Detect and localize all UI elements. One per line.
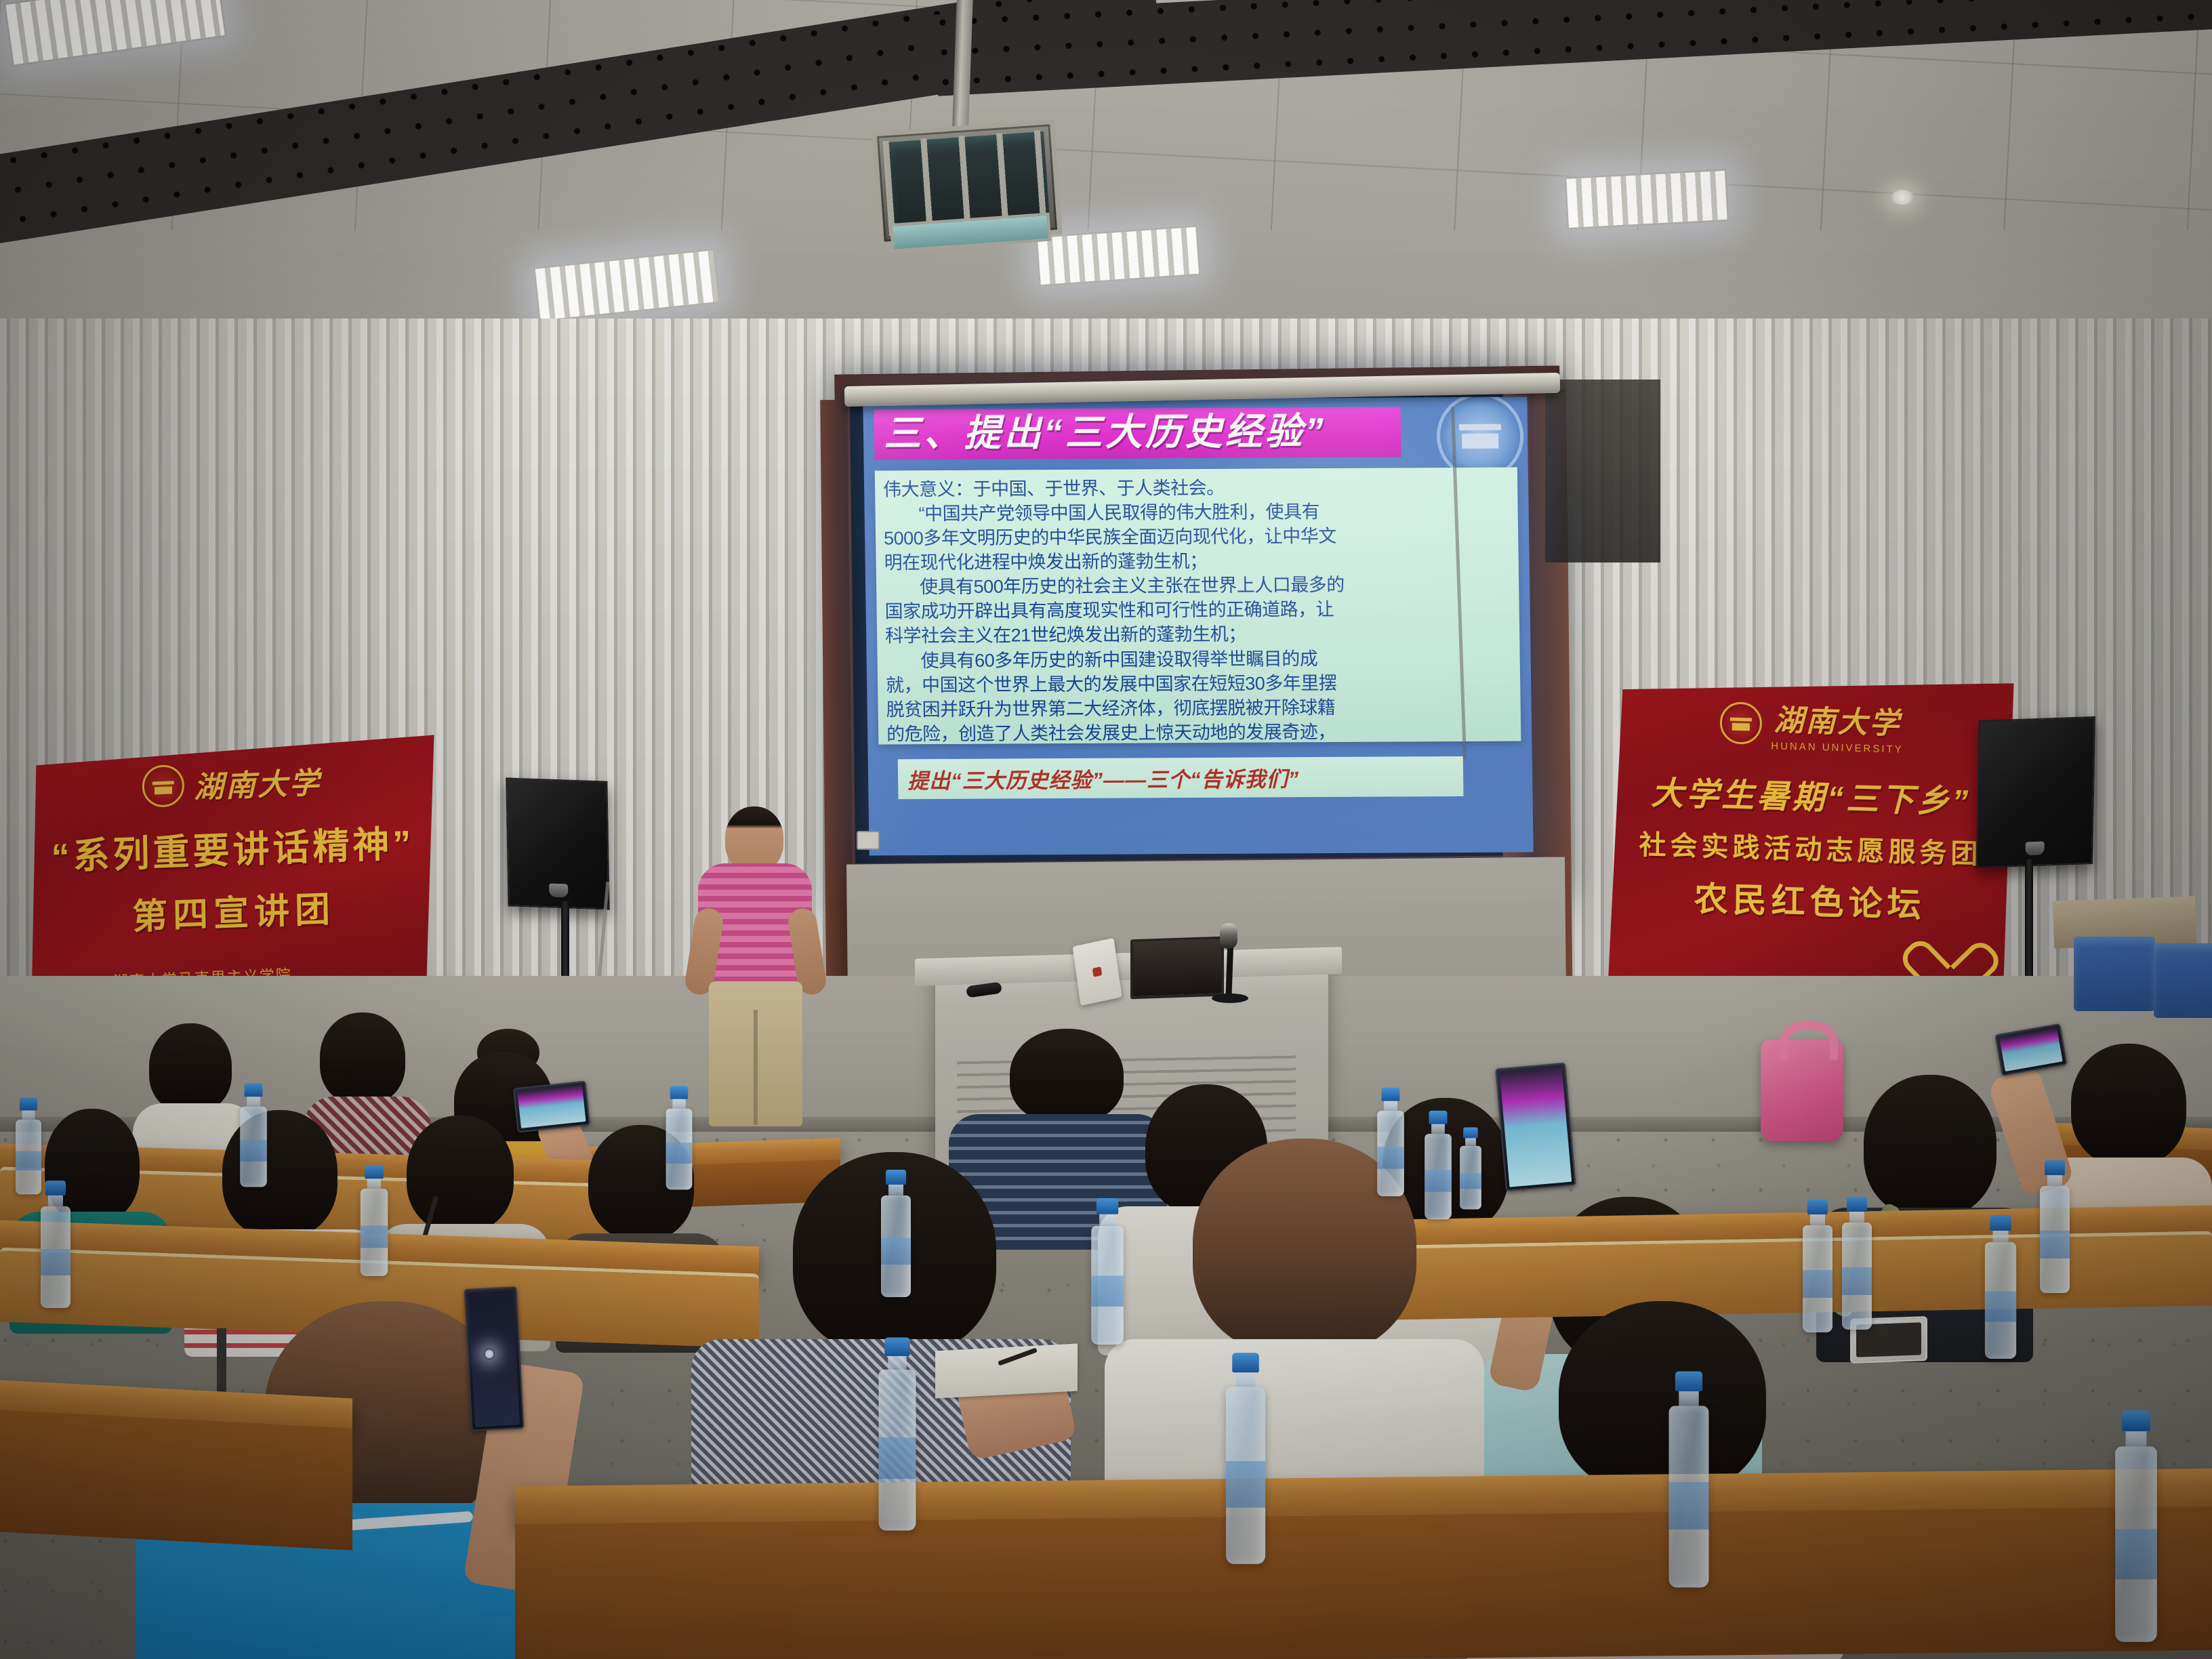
bottle-neck: [1465, 1138, 1476, 1146]
bottle-neck: [22, 1111, 35, 1120]
water-bottle: [1377, 1088, 1404, 1196]
bottle-label: [41, 1249, 70, 1275]
bottle-label: [2115, 1529, 2157, 1580]
head: [149, 1023, 232, 1113]
bottle-body: [1842, 1223, 1872, 1330]
water-bottle: [1985, 1215, 2016, 1359]
bottle-cap: [886, 1170, 906, 1185]
bottle-neck: [1235, 1372, 1255, 1387]
bottle-neck: [1099, 1214, 1115, 1226]
bottle-neck: [888, 1185, 903, 1195]
banner-right-university-en: HUNAN UNIVERSITY: [1771, 740, 1904, 755]
bottle-label: [16, 1151, 41, 1171]
bottle-body: [1803, 1225, 1832, 1332]
slide-line: 使具有60多年历史的新中国建设取得举世瞩目的成: [885, 645, 1512, 673]
banner-right-university: 湖南大学: [1774, 703, 1901, 740]
laptop[interactable]: [1072, 938, 1122, 1006]
bottle-body: [41, 1206, 70, 1308]
water-bottle: [2040, 1160, 2070, 1293]
slide-line: 的危险，创造了人类社会发展史上惊天动地的发展奇迹，: [886, 718, 1513, 745]
bottle-body: [240, 1107, 267, 1187]
bottle-label: [1091, 1276, 1124, 1307]
head: [1864, 1075, 1996, 1217]
wall-socket: [857, 831, 880, 850]
banner-left-line2: 第四宣讲团: [30, 876, 438, 943]
bottle-neck: [367, 1179, 381, 1189]
phone-screen: [468, 1290, 520, 1427]
slide-line: 5000多年文明历史的中华民族全面迈向现代化，让中华文: [884, 523, 1511, 551]
water-bottle: [1226, 1353, 1265, 1564]
bottle-neck: [1810, 1214, 1825, 1225]
bottle-body: [1377, 1111, 1404, 1196]
banner-right-line2: 社会实践活动志愿服务团: [1609, 822, 2012, 873]
slide-line: “中国共产党领导中国人民取得的伟大胜利，使具有: [883, 499, 1510, 527]
water-bottle: [16, 1098, 41, 1195]
projector-cage-bars: [882, 130, 1051, 236]
water-bottle: [666, 1086, 693, 1189]
bottle-body: [1985, 1242, 2016, 1359]
bottle-body: [666, 1109, 693, 1190]
hunan-university-seal-icon: [1719, 701, 1762, 745]
bottle-cap: [20, 1098, 37, 1111]
bottle-cap: [1382, 1088, 1400, 1101]
bottle-cap: [1097, 1198, 1118, 1214]
slide-line: 伟大意义：于中国、于世界、于人类社会。: [883, 474, 1510, 502]
bottle-cap: [1463, 1128, 1478, 1139]
bottle-label: [2040, 1231, 2070, 1258]
bottle-label: [666, 1143, 693, 1164]
banner-right-logo-row: 湖南大学 HUNAN UNIVERSITY: [1610, 691, 2014, 759]
smartphone[interactable]: [464, 1286, 525, 1431]
dark-recess: [1545, 380, 1660, 562]
slide-body-text: 伟大意义：于中国、于世界、于人类社会。 “中国共产党领导中国人民取得的伟大胜利，…: [875, 468, 1521, 745]
camera-flash-icon: [484, 1349, 495, 1359]
bottle-body: [1425, 1134, 1452, 1219]
banner-right-line1: 大学生暑期“三下乡”: [1610, 765, 2013, 824]
bottle-body: [16, 1120, 41, 1194]
water-bottle: [361, 1165, 388, 1276]
bottle-cap: [2045, 1160, 2065, 1175]
bottle-cap: [884, 1338, 910, 1357]
water-bottle: [1803, 1200, 1832, 1332]
pa-speaker-right: [1976, 716, 2095, 868]
projector-security-cage: [872, 119, 1062, 247]
bottle-body: [1460, 1146, 1481, 1210]
bottle-neck: [1679, 1391, 1698, 1406]
bottle-cap: [670, 1086, 688, 1099]
bottle-label: [1669, 1482, 1709, 1530]
bottle-label: [1460, 1172, 1481, 1189]
bottle-cap: [1847, 1197, 1867, 1212]
microphone-base: [1212, 994, 1248, 1003]
speaker-badge-icon: [549, 884, 568, 898]
water-jug: [2154, 943, 2212, 1018]
bottle-neck: [888, 1356, 907, 1370]
presenter-trouser-split: [754, 1010, 758, 1125]
bottle-cap: [245, 1084, 263, 1097]
slide-line: 使具有500年历史的社会主义主张在世界上人口最多的: [884, 572, 1511, 600]
water-bottle: [41, 1181, 70, 1308]
bottle-body: [1091, 1226, 1124, 1345]
notebook: [935, 1343, 1078, 1398]
water-jug: [2074, 937, 2155, 1011]
phone-screen-showing-slide: [1500, 1067, 1572, 1187]
slide-title: 三、提出“三大历史经验”: [874, 407, 1401, 459]
water-bottle: [1842, 1197, 1872, 1330]
bottle-body: [361, 1189, 388, 1276]
slide-footer-text: 提出“三大历史经验”——三个“告诉我们”: [898, 756, 1464, 799]
banner-left-logo-row: 湖南大学: [28, 754, 435, 813]
pink-backpack: [1761, 1040, 1843, 1141]
bottle-neck: [1384, 1101, 1397, 1111]
water-bottle: [2115, 1410, 2157, 1642]
bottle-neck: [247, 1097, 260, 1106]
bottle-cap: [2122, 1410, 2150, 1431]
ceiling-light-fixture: [1564, 169, 1729, 230]
bottle-label: [879, 1437, 916, 1479]
slide-line: 脱贫困并跃升为世界第二大经济体，彻底摆脱被开除球籍: [886, 694, 1513, 722]
smartphone[interactable]: [1495, 1063, 1576, 1191]
water-bottle: [240, 1084, 267, 1187]
head: [407, 1115, 514, 1232]
banner-left-line1: “系列重要讲话精神”: [29, 812, 436, 881]
bottle-cap: [1807, 1200, 1828, 1214]
bottle-cap: [45, 1181, 66, 1195]
water-bottle: [1091, 1198, 1124, 1345]
banner-right-line3: 农民红色论坛: [1608, 869, 2012, 930]
bottle-cap: [1675, 1372, 1702, 1391]
bottle-label: [1425, 1170, 1452, 1192]
bottle-neck: [1849, 1212, 1864, 1223]
banner-left: 湖南大学 “系列重要讲话精神” 第四宣讲团 湖南大学马克思主义学院: [28, 735, 438, 1002]
hunan-university-seal-icon: [142, 764, 184, 808]
bottle-neck: [1431, 1124, 1445, 1134]
bottle-label: [1226, 1461, 1265, 1507]
bottle-label: [1377, 1147, 1404, 1169]
presenter-head: [725, 806, 783, 872]
head: [2071, 1044, 2186, 1166]
ceiling-dome-light: [1891, 190, 1914, 205]
bottle-neck: [1992, 1231, 2008, 1242]
head: [1559, 1301, 1766, 1495]
bottle-cap: [1232, 1353, 1259, 1372]
bottle-cap: [365, 1165, 384, 1179]
bottle-label: [1985, 1291, 2016, 1322]
phone-screen: [1999, 1028, 2062, 1071]
bottle-cap: [1990, 1215, 2011, 1231]
bottle-label: [1803, 1270, 1832, 1298]
bottle-neck: [2126, 1431, 2147, 1446]
water-bottle: [1460, 1128, 1481, 1210]
bottle-label: [1842, 1267, 1872, 1295]
desk-front-panel: [515, 1507, 2212, 1659]
bottle-body: [2115, 1446, 2157, 1641]
water-bottle: [1425, 1111, 1452, 1219]
slide-line: 国家成功开辟出具有高度现实性和可行性的正确道路，让: [884, 596, 1511, 624]
pa-speaker-left: [506, 777, 609, 909]
presenter: [684, 806, 827, 1132]
bottle-body: [1669, 1406, 1709, 1587]
bottle-label: [240, 1141, 267, 1162]
water-bottle: [1669, 1372, 1709, 1588]
lecture-hall-photo: 三、提出“三大历史经验” 伟大意义：于中国、于世界、于人类社会。 “中国共产党领…: [0, 0, 2212, 1659]
bottle-neck: [48, 1195, 63, 1206]
bottle-body: [881, 1195, 911, 1297]
head: [320, 1012, 405, 1105]
gooseneck-microphone-head[interactable]: [1220, 923, 1237, 949]
bottle-neck: [672, 1099, 685, 1109]
slide-line: 就，中国这个世界上最大的发展中国家在短短30多年里摆: [886, 670, 1513, 697]
banner-left-university: 湖南大学: [193, 758, 321, 806]
monitor[interactable]: [1130, 937, 1224, 1000]
water-bottle: [881, 1170, 911, 1297]
bottle-neck: [2047, 1175, 2062, 1186]
slide-line: 科学社会主义在21世纪焕发出新的蓬勃生机；: [885, 621, 1512, 649]
projection-screen: 三、提出“三大历史经验” 伟大意义：于中国、于世界、于人类社会。 “中国共产党领…: [863, 396, 1533, 855]
bottle-body: [2040, 1186, 2070, 1293]
bottle-label: [361, 1225, 388, 1248]
bottle-body: [879, 1370, 916, 1531]
bottle-body: [1226, 1387, 1265, 1563]
water-bottle: [879, 1338, 916, 1531]
banner-right: 湖南大学 HUNAN UNIVERSITY 大学生暑期“三下乡” 社会实践活动志…: [1607, 672, 2013, 1023]
bottle-label: [881, 1238, 911, 1265]
desk-front-panel: [0, 1410, 352, 1550]
slide-line: 明在现代化进程中焕发出新的蓬勃生机；: [884, 548, 1511, 575]
speaker-badge-icon: [2025, 841, 2044, 855]
bottle-cap: [1429, 1111, 1448, 1124]
